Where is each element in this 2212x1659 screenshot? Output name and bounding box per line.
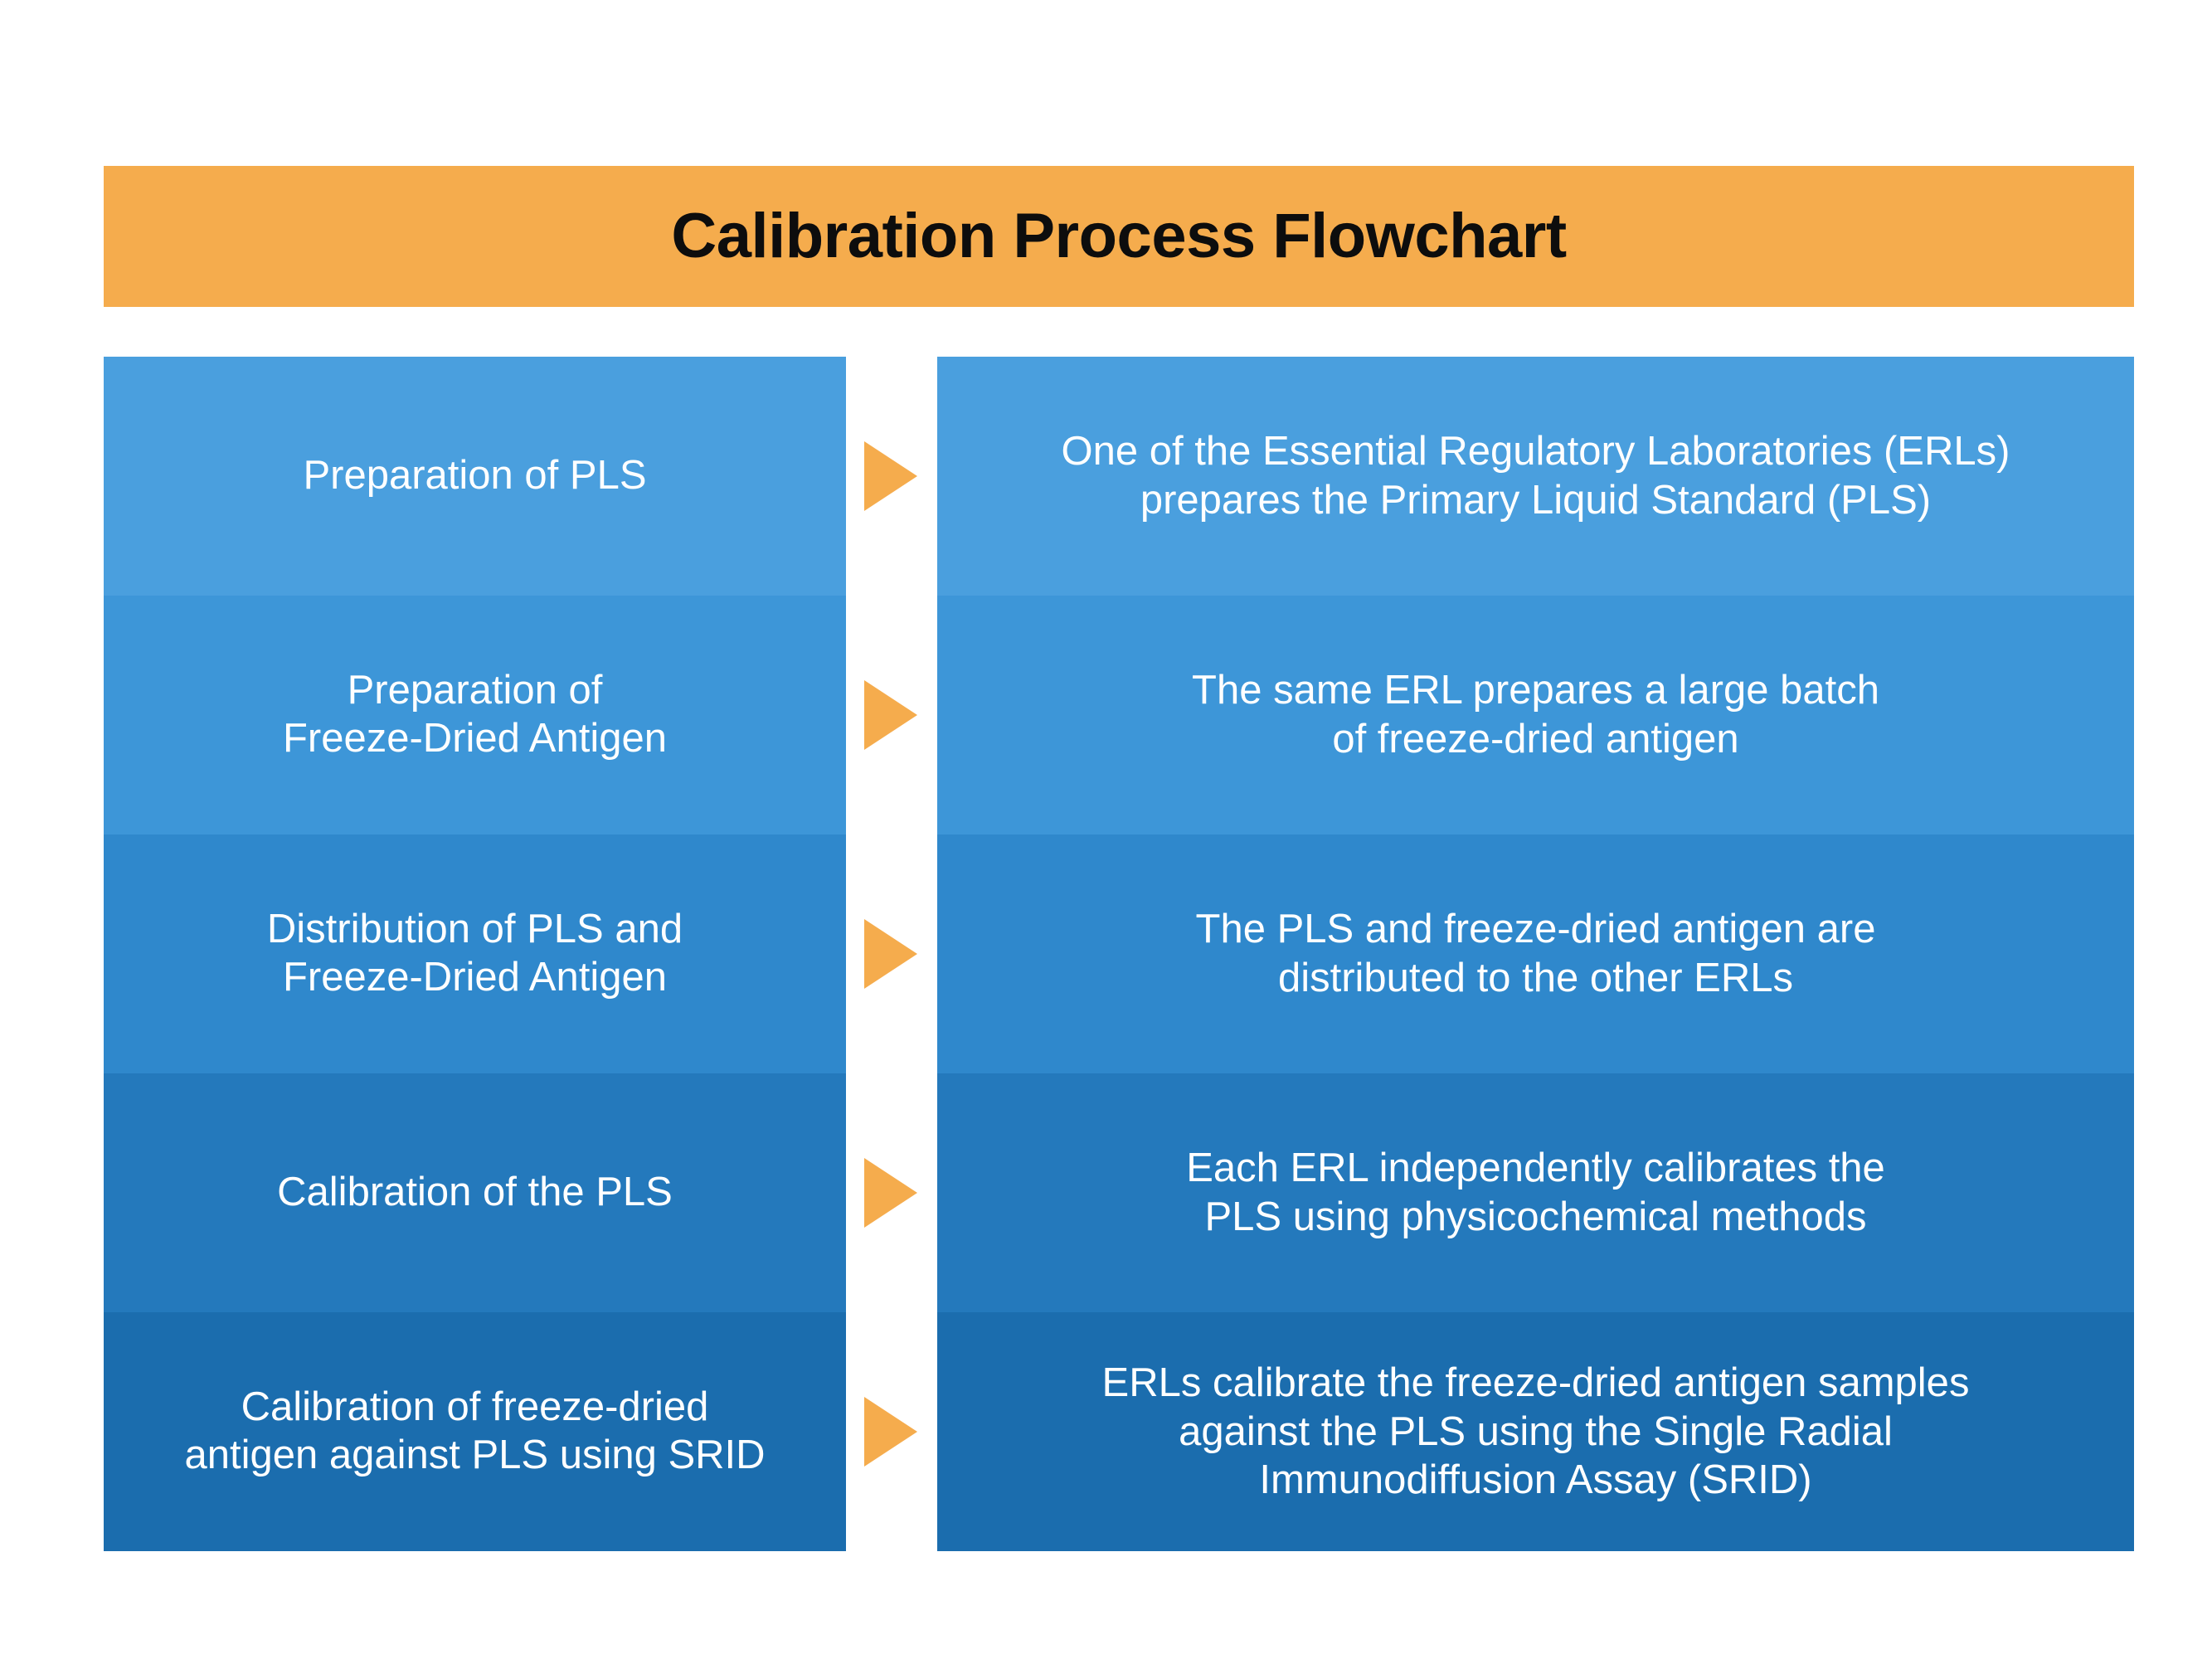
step-label-box[interactable]: Distribution of PLS and Freeze-Dried Ant… — [104, 834, 846, 1073]
step-label-text: Calibration of the PLS — [277, 1169, 673, 1217]
step-description-box[interactable]: ERLs calibrate the freeze-dried antigen … — [937, 1312, 2134, 1551]
step-label-box[interactable]: Preparation of PLS — [104, 357, 846, 596]
step-description-box[interactable]: The same ERL prepares a large batch of f… — [937, 596, 2134, 834]
step-description-text: ERLs calibrate the freeze-dried antigen … — [1102, 1359, 1970, 1505]
step-description-text: Each ERL independently calibrates the PL… — [1186, 1144, 1885, 1242]
step-description-text: One of the Essential Regulatory Laborato… — [1062, 427, 2010, 525]
arrow-right-icon — [864, 1158, 917, 1228]
step-description-box[interactable]: The PLS and freeze-dried antigen are dis… — [937, 834, 2134, 1073]
step-label-box[interactable]: Preparation of Freeze-Dried Antigen — [104, 596, 846, 834]
flowchart-canvas: Calibration Process Flowchart Preparatio… — [0, 0, 2212, 1659]
step-description-box[interactable]: Each ERL independently calibrates the PL… — [937, 1073, 2134, 1312]
step-label-box[interactable]: Calibration of the PLS — [104, 1073, 846, 1312]
flow-row: Calibration of freeze-dried antigen agai… — [0, 1312, 2212, 1551]
step-label-text: Preparation of PLS — [303, 452, 646, 500]
arrow-right-icon — [864, 441, 917, 511]
step-label-text: Distribution of PLS and Freeze-Dried Ant… — [267, 906, 683, 1002]
page-title: Calibration Process Flowchart — [671, 205, 1566, 268]
step-description-text: The PLS and freeze-dried antigen are dis… — [1196, 905, 1876, 1003]
flow-row: Calibration of the PLSEach ERL independe… — [0, 1073, 2212, 1312]
arrow-right-icon — [864, 1397, 917, 1467]
flow-row: Preparation of PLSOne of the Essential R… — [0, 357, 2212, 596]
arrow-right-icon — [864, 680, 917, 750]
step-label-text: Preparation of Freeze-Dried Antigen — [283, 667, 667, 763]
step-description-text: The same ERL prepares a large batch of f… — [1192, 666, 1879, 764]
step-label-box[interactable]: Calibration of freeze-dried antigen agai… — [104, 1312, 846, 1551]
flowchart-title-banner: Calibration Process Flowchart — [104, 166, 2134, 307]
step-label-text: Calibration of freeze-dried antigen agai… — [184, 1384, 765, 1480]
flow-row: Distribution of PLS and Freeze-Dried Ant… — [0, 834, 2212, 1073]
arrow-right-icon — [864, 919, 917, 989]
flow-row: Preparation of Freeze-Dried AntigenThe s… — [0, 596, 2212, 834]
step-description-box[interactable]: One of the Essential Regulatory Laborato… — [937, 357, 2134, 596]
